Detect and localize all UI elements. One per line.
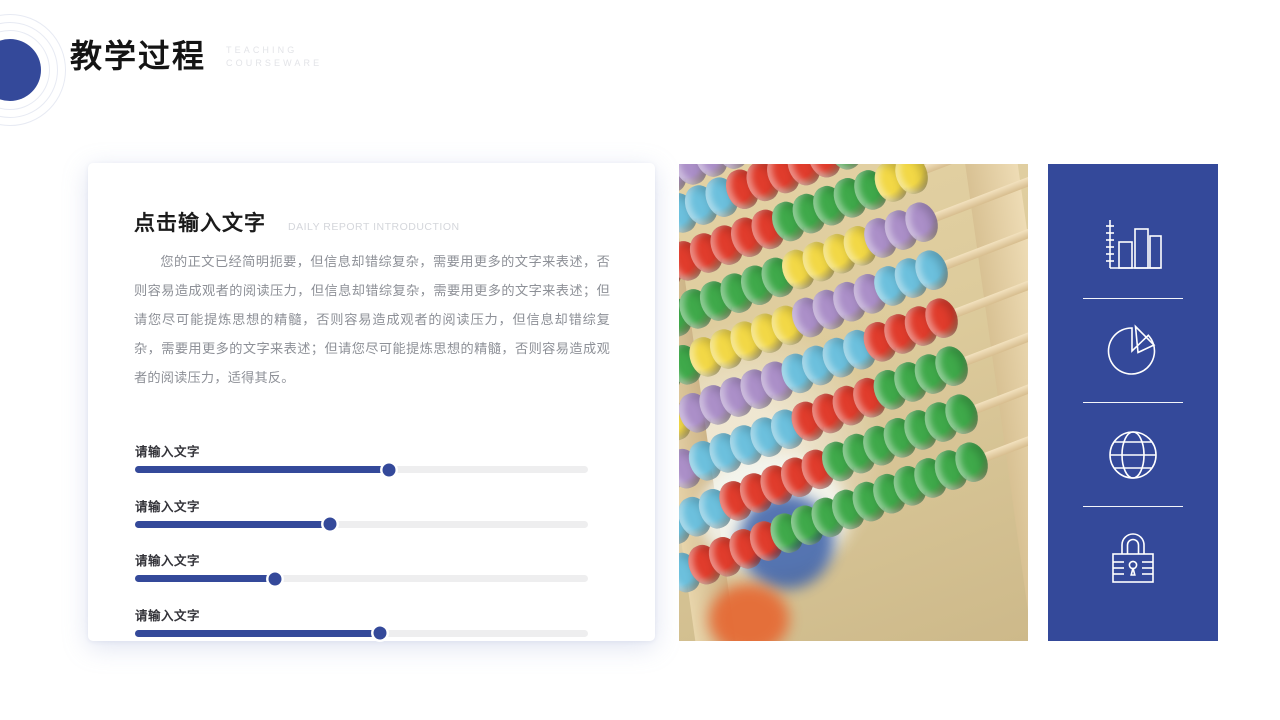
- page-subtitle-line2: COURSEWARE: [226, 57, 322, 70]
- page-subtitle-line1: TEACHING: [226, 44, 322, 57]
- slider-label[interactable]: 请输入文字: [135, 496, 608, 515]
- header-decoration: [0, 24, 66, 116]
- lock-icon: [1104, 529, 1162, 589]
- sidebar-item-pie-chart[interactable]: [1102, 299, 1164, 402]
- page-subtitle: TEACHING COURSEWARE: [226, 44, 322, 70]
- slider-label[interactable]: 请输入文字: [135, 550, 608, 569]
- slider-track[interactable]: [135, 466, 588, 473]
- card-body-text: 您的正文已经简明扼要，但信息却错综复杂，需要用更多的文字来表述，否则容易造成观者…: [134, 247, 610, 392]
- slider-fill: [135, 575, 275, 582]
- slider-knob[interactable]: [371, 625, 388, 642]
- sidebar-item-bar-chart[interactable]: [1102, 195, 1164, 298]
- slider-row: 请输入文字: [135, 441, 608, 473]
- slider-fill: [135, 630, 380, 637]
- card-subtitle: DAILY REPORT INTRODUCTION: [288, 221, 460, 233]
- globe-icon: [1104, 426, 1162, 484]
- slider-track[interactable]: [135, 575, 588, 582]
- slider-row: 请输入文字: [135, 550, 608, 582]
- page-title: 教学过程: [70, 40, 206, 72]
- slider-label[interactable]: 请输入文字: [135, 441, 608, 460]
- slider-knob[interactable]: [267, 570, 284, 587]
- slider-row: 请输入文字: [135, 605, 608, 637]
- page-header: 教学过程 TEACHING COURSEWARE: [70, 40, 322, 72]
- pie-chart-icon: [1102, 322, 1164, 380]
- abacus-photo: [679, 164, 1028, 641]
- sidebar-item-lock[interactable]: [1104, 507, 1162, 610]
- slider-fill: [135, 466, 389, 473]
- slider-label[interactable]: 请输入文字: [135, 605, 608, 624]
- card-title[interactable]: 点击输入文字: [134, 207, 266, 237]
- slider-knob[interactable]: [321, 516, 338, 533]
- sidebar-divider: [1083, 506, 1183, 507]
- sidebar-divider: [1083, 298, 1183, 299]
- bar-chart-icon: [1102, 218, 1164, 276]
- card-header: 点击输入文字 DAILY REPORT INTRODUCTION: [134, 207, 460, 237]
- sidebar-item-globe[interactable]: [1104, 403, 1162, 506]
- slider-list: 请输入文字 请输入文字 请输入文字 请输入文字: [135, 441, 608, 659]
- slider-track[interactable]: [135, 630, 588, 637]
- sidebar-divider: [1083, 402, 1183, 403]
- slider-knob[interactable]: [380, 461, 397, 478]
- content-card: 点击输入文字 DAILY REPORT INTRODUCTION 您的正文已经简…: [88, 163, 655, 641]
- icon-sidebar: [1048, 164, 1218, 641]
- slider-track[interactable]: [135, 521, 588, 528]
- slider-row: 请输入文字: [135, 496, 608, 528]
- slider-fill: [135, 521, 330, 528]
